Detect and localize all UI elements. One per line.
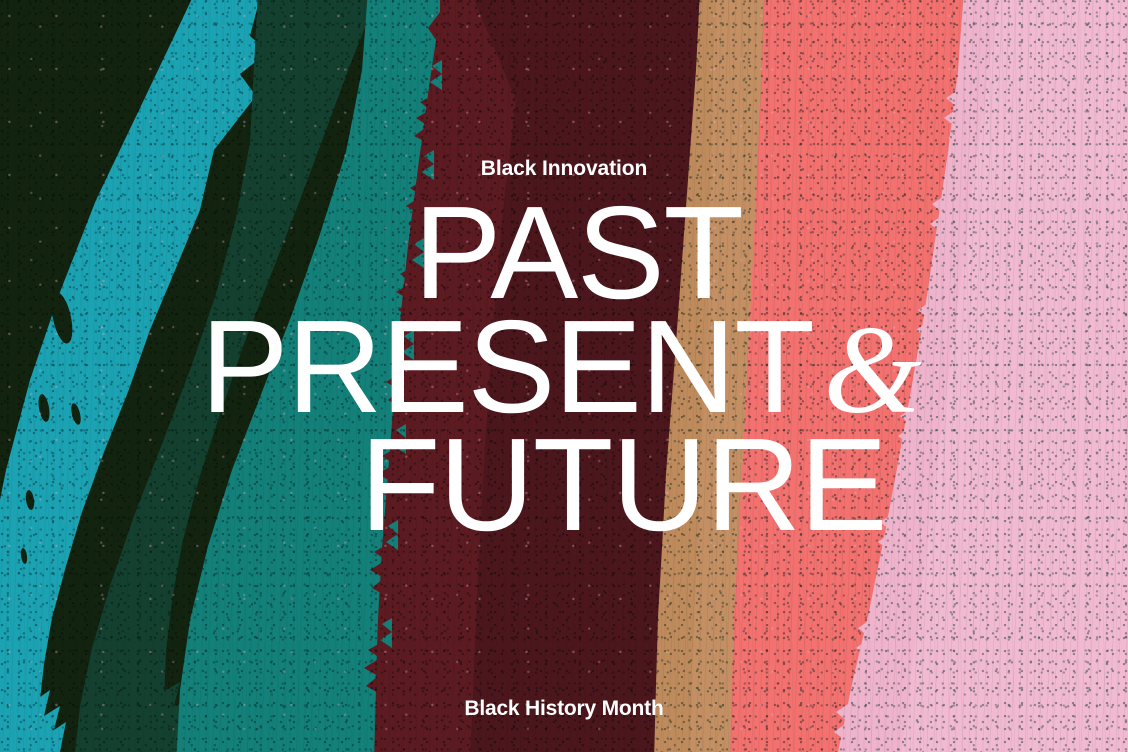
footer-label: Black History Month bbox=[0, 697, 1128, 720]
poster-text-layer: Black Innovation PAST PRESENT& FUTURE Bl… bbox=[0, 0, 1128, 752]
headline-block: PAST PRESENT& FUTURE bbox=[0, 196, 1128, 542]
eyebrow-label: Black Innovation bbox=[0, 157, 1128, 180]
poster-canvas: Black Innovation PAST PRESENT& FUTURE Bl… bbox=[0, 0, 1128, 752]
headline-line-future: FUTURE bbox=[0, 428, 1128, 542]
